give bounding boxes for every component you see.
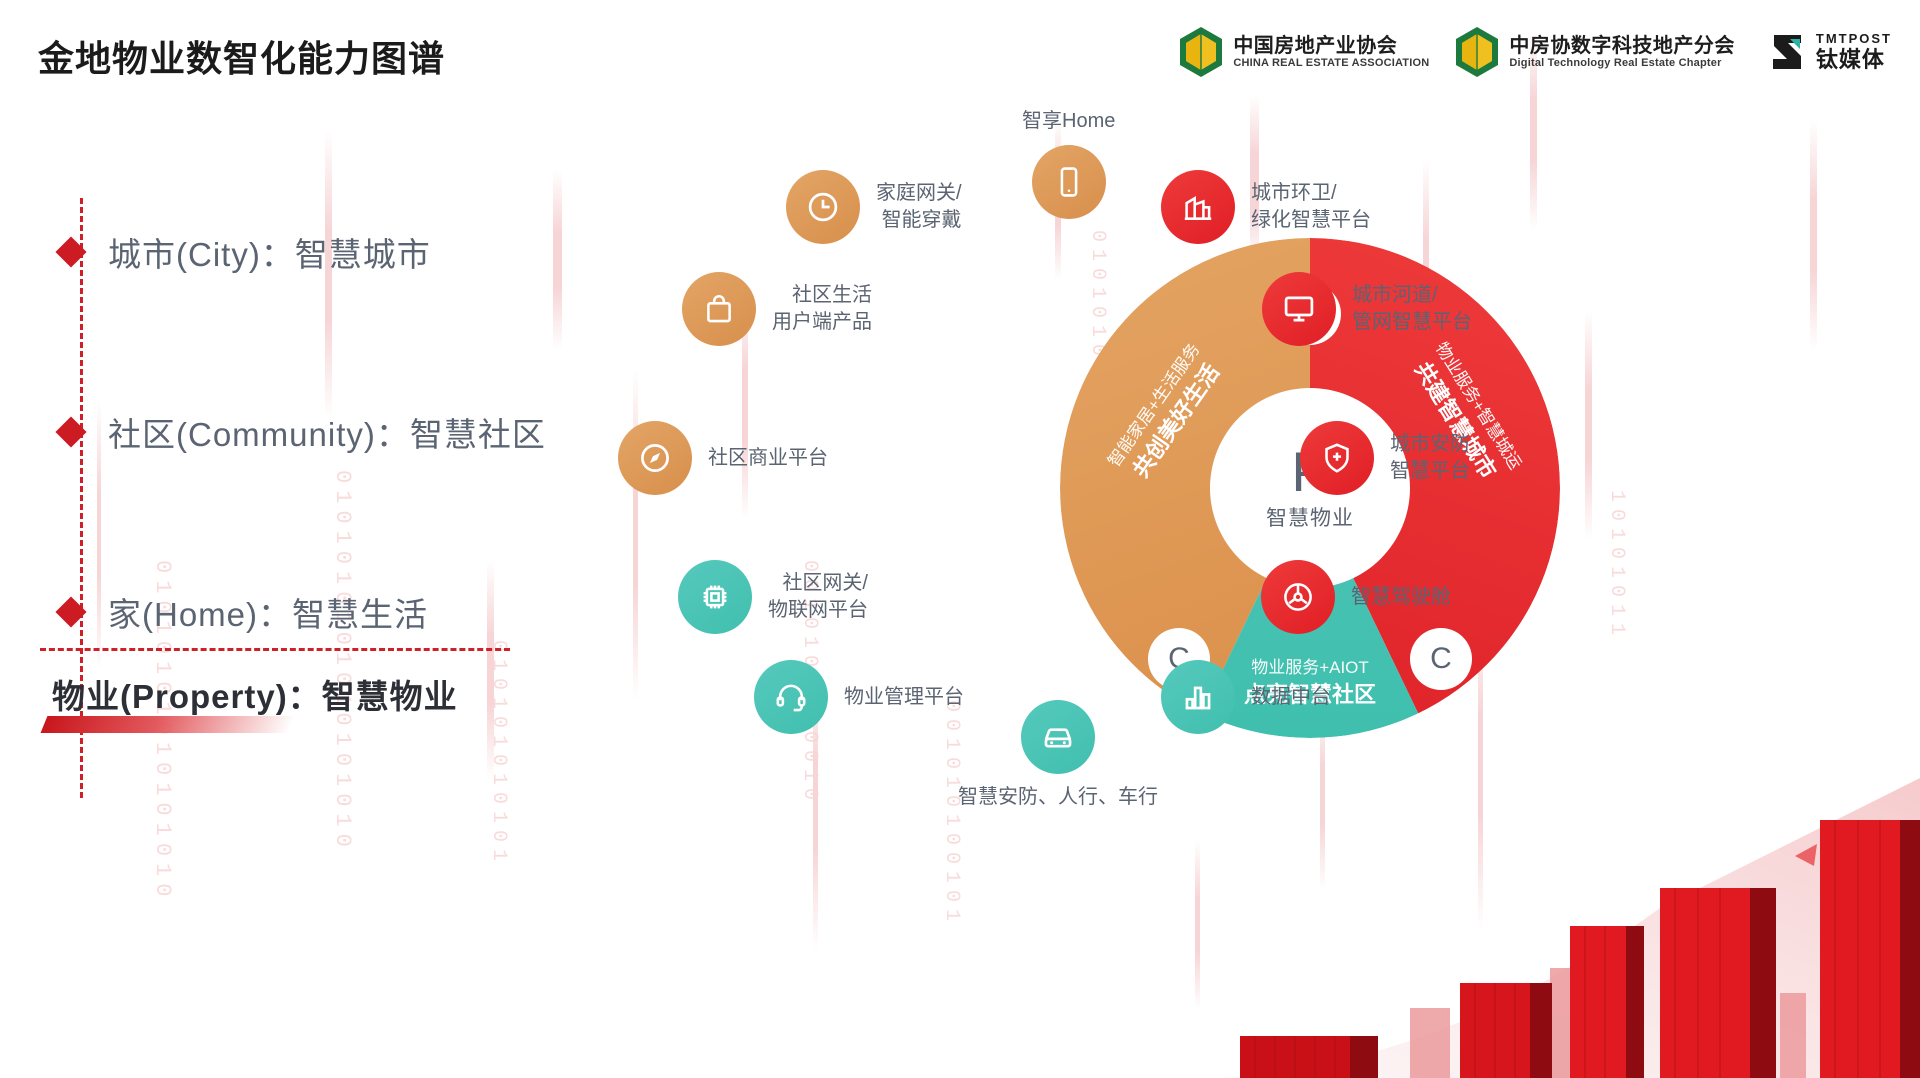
node-label: 智慧驾驶舱 [1351,584,1451,611]
steering-wheel-icon [1261,560,1335,634]
list-item[interactable]: 家(Home)：智慧生活 [60,588,428,636]
page-title: 金地物业数智化能力图谱 [38,30,445,82]
node-community-life-products[interactable]: 社区生活用户端产品 [682,272,872,346]
list-item-label: 社区(Community)：智慧社区 [108,408,546,456]
monitor-icon [1262,272,1336,346]
logo-group: 中国房地产业协会 CHINA REAL ESTATE ASSOCIATION 中… [1179,26,1892,78]
mobile-phone-icon [1032,145,1106,219]
tmtpost-label-en: TMTPOST [1816,32,1892,47]
node-city-waterway-pipe-platform[interactable]: 城市河道/管网智慧平台 [1262,272,1472,346]
logo-tmtpost: TMTPOST 钛媒体 [1761,29,1892,75]
tmtpost-label-cn: 钛媒体 [1816,47,1892,72]
shield-plus-icon [1300,421,1374,495]
node-data-middle-platform[interactable]: 数据中台 [1161,660,1331,734]
accent-bar [1195,840,1200,1010]
bar-chart-icon [1161,660,1235,734]
list-item[interactable]: 城市(City)：智慧城市 [60,228,431,276]
list-item-label: 家(Home)：智慧生活 [108,588,428,636]
highlighted-item-label: 物业(Property)：智慧物业 [52,670,458,718]
buildings-icon [1161,170,1235,244]
node-label: 智慧安防、人行、车行 [958,784,1158,811]
node-label: 物业管理平台 [844,684,964,711]
list-item-label: 城市(City)：智慧城市 [108,228,431,276]
binary-watermark: 10101011 [1605,490,1628,642]
node-smart-home[interactable]: 智享Home [1022,108,1115,219]
logo-title-en: CHINA REAL ESTATE ASSOCIATION [1233,57,1429,69]
horizontal-dashed-line [40,648,510,651]
node-label: 社区生活用户端产品 [772,282,872,336]
node-label: 智享Home [1022,108,1115,135]
highlighted-list-item[interactable]: 物业(Property)：智慧物业 [52,670,458,718]
highlight-underline [41,716,296,733]
logo-digital-technology-chapter: 中房协数字科技地产分会 Digital Technology Real Esta… [1455,26,1735,78]
diamond-bullet-icon [55,236,86,267]
chip-icon [678,560,752,634]
badge-city-right: C [1410,628,1472,690]
node-label: 社区网关/物联网平台 [768,570,868,624]
hexagon-logo-icon [1455,26,1499,78]
left-list-panel: 城市(City)：智慧城市 社区(Community)：智慧社区 家(Home)… [0,170,640,890]
node-city-sanitation-greening-platform[interactable]: 城市环卫/绿化智慧平台 [1161,170,1371,244]
logo-title-en: Digital Technology Real Estate Chapter [1509,57,1735,69]
node-community-commerce-platform[interactable]: 社区商业平台 [618,421,828,495]
node-city-security-platform[interactable]: 城市安防智慧平台 [1300,421,1470,495]
center-label: 智慧物业 [1266,502,1354,532]
node-property-management-platform[interactable]: 物业管理平台 [754,660,964,734]
node-community-gateway-iot[interactable]: 社区网关/物联网平台 [678,560,868,634]
car-icon [1021,700,1095,774]
tmtpost-mark-icon [1761,29,1807,75]
skyline-decoration [1220,778,1920,1078]
diamond-bullet-icon [55,416,86,447]
node-smart-cockpit[interactable]: 智慧驾驶舱 [1261,560,1451,634]
clock-icon [786,170,860,244]
hexagon-logo-icon [1179,26,1223,78]
node-label: 数据中台 [1251,684,1331,711]
node-label: 城市环卫/绿化智慧平台 [1251,180,1371,234]
headset-icon [754,660,828,734]
shopping-bag-icon [682,272,756,346]
list-item[interactable]: 社区(Community)：智慧社区 [60,408,546,456]
node-smart-security-access[interactable]: 智慧安防、人行、车行 [958,700,1158,811]
node-home-gateway[interactable]: 家庭网关/智能穿戴 [786,170,962,244]
node-label: 城市河道/管网智慧平台 [1352,282,1472,336]
logo-title-cn: 中房协数字科技地产分会 [1509,35,1735,57]
logo-title-cn: 中国房地产业协会 [1233,35,1429,57]
diamond-bullet-icon [55,596,86,627]
node-label: 家庭网关/智能穿戴 [876,180,962,234]
logo-china-real-estate-association: 中国房地产业协会 CHINA REAL ESTATE ASSOCIATION [1179,26,1429,78]
accent-bar [1585,310,1592,540]
accent-bar [1810,120,1817,350]
node-label: 城市安防智慧平台 [1390,431,1470,485]
node-label: 社区商业平台 [708,445,828,472]
compass-icon [618,421,692,495]
